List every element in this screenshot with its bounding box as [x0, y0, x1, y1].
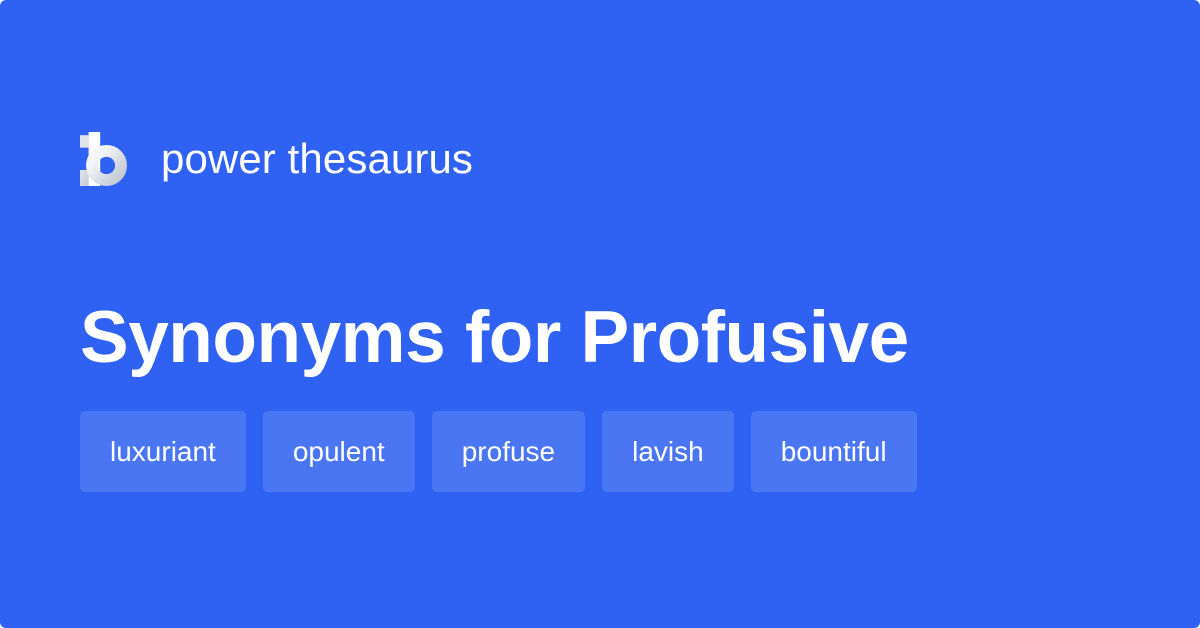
- power-thesaurus-b-logo-icon: [80, 132, 127, 186]
- synonym-chip[interactable]: opulent: [263, 411, 415, 492]
- synonym-chip[interactable]: profuse: [432, 411, 585, 492]
- synonym-chip[interactable]: bountiful: [751, 411, 917, 492]
- brand-name: power thesaurus: [161, 138, 473, 180]
- synonym-chip[interactable]: lavish: [602, 411, 734, 492]
- og-card: power thesaurus Synonyms for Profusive l…: [0, 0, 1200, 628]
- synonym-chip[interactable]: luxuriant: [80, 411, 246, 492]
- synonym-chip-list: luxuriant opulent profuse lavish bountif…: [80, 411, 917, 492]
- page-title: Synonyms for Profusive: [80, 301, 1130, 374]
- brand-lockup[interactable]: power thesaurus: [80, 128, 473, 190]
